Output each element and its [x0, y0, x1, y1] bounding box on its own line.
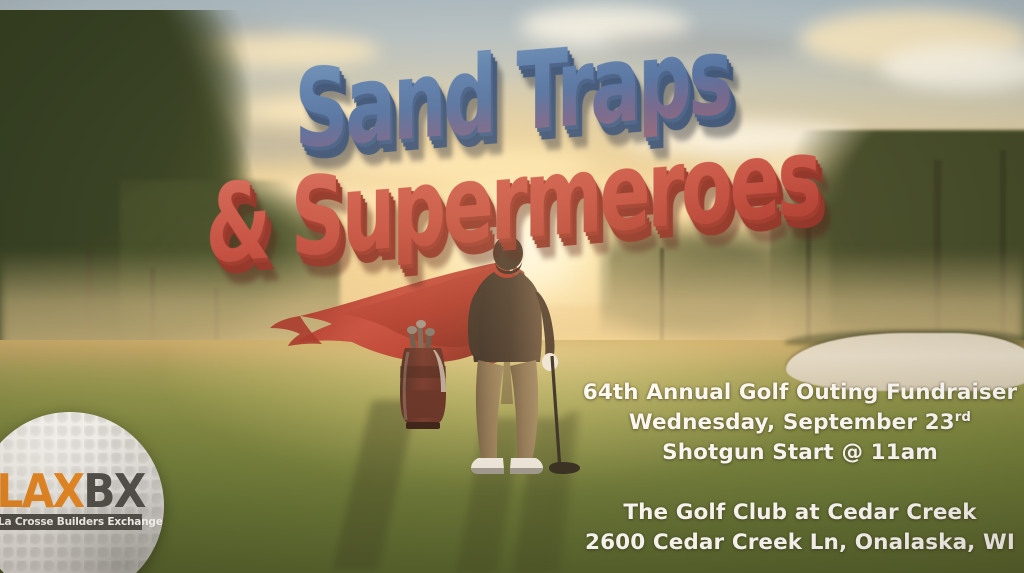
- bag-pocket: [402, 390, 444, 418]
- event-date-ordinal: rd: [955, 410, 971, 425]
- logo-tagline: La Crosse Builders Exchange: [0, 514, 142, 530]
- club-shaft: [552, 356, 560, 470]
- bag-base: [406, 422, 440, 429]
- event-line-start: Shotgun Start @ 11am: [580, 438, 1020, 468]
- laxbx-logo[interactable]: LAXBX La Crosse Builders Exchange: [0, 412, 164, 573]
- event-line-date: Wednesday, September 23rd: [580, 408, 1020, 438]
- putter-head: [549, 462, 580, 474]
- logo-lax-text: LAX: [0, 464, 83, 518]
- logo-wordmark: LAXBX: [0, 468, 164, 514]
- event-poster: Sand Traps& Supermeroes 64th Annual Golf…: [0, 0, 1024, 573]
- event-line-annual: 64th Annual Golf Outing Fundraiser: [580, 378, 1020, 408]
- event-details: 64th Annual Golf Outing Fundraiser Wedne…: [580, 378, 1020, 468]
- cape-tip: [270, 316, 322, 346]
- head: [493, 236, 523, 270]
- torso: [472, 272, 542, 362]
- venue-address: 2600 Cedar Creek Ln, Onalaska, WI: [580, 528, 1020, 558]
- venue-details: The Golf Club at Cedar Creek 2600 Cedar …: [580, 498, 1020, 558]
- venue-name: The Golf Club at Cedar Creek: [580, 498, 1020, 528]
- left-leg: [476, 360, 504, 460]
- golf-club: [549, 356, 580, 474]
- glove: [542, 353, 558, 371]
- logo-bx-text: BX: [83, 464, 144, 518]
- logo-lax-bx: LAXBX: [0, 468, 144, 514]
- right-leg: [510, 360, 538, 460]
- event-date-text: Wednesday, September 23: [629, 410, 955, 435]
